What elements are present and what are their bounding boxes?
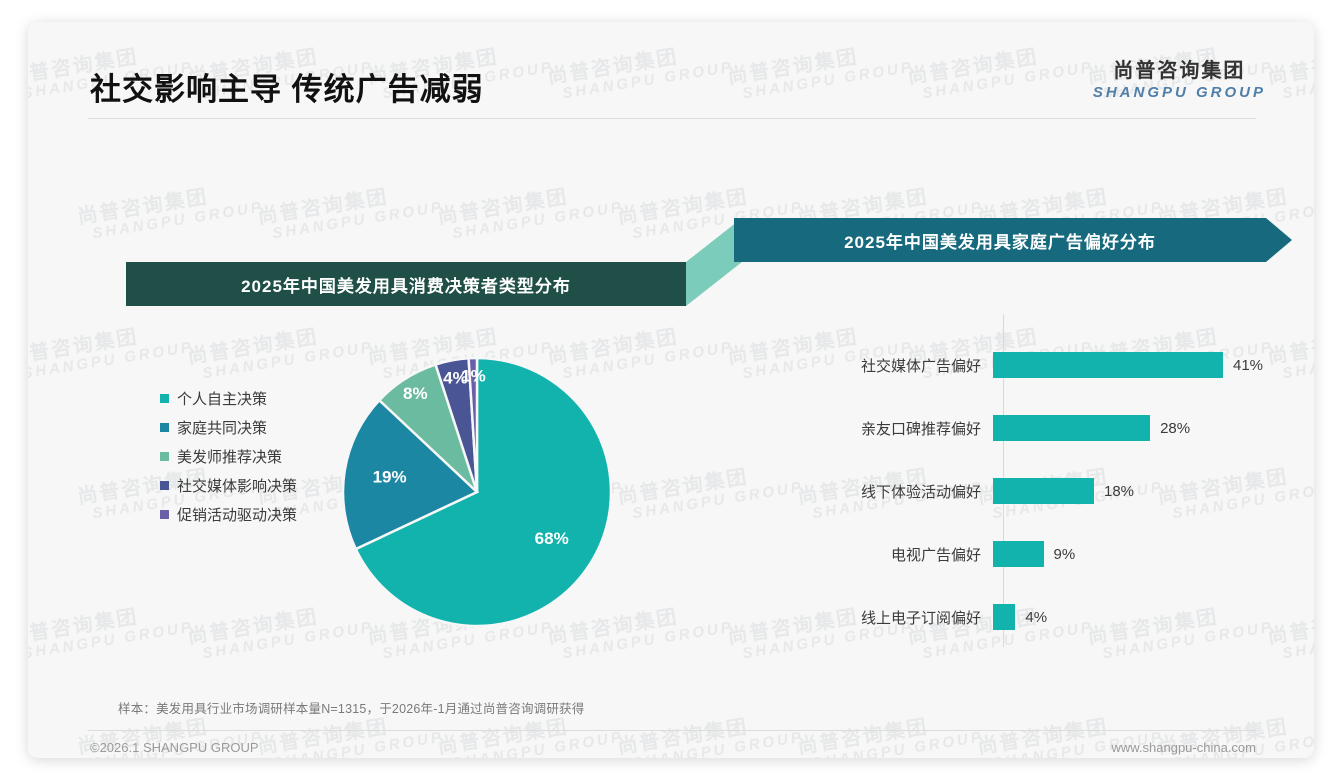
sample-footnote: 样本：美发用具行业市场调研样本量N=1315，于2026年-1月通过尚普咨询调研… <box>118 698 584 717</box>
slide-header: 社交影响主导 传统广告减弱 尚普咨询集团 SHANGPU GROUP <box>28 22 1314 118</box>
pie-legend-label: 家庭共同决策 <box>177 417 267 438</box>
pie-legend-item[interactable]: 美发师推荐决策 <box>160 442 297 471</box>
banner-connector-shape <box>686 218 742 306</box>
bar-fill[interactable] <box>993 541 1044 567</box>
bar-value-label: 4% <box>1025 609 1047 626</box>
pie-legend: 个人自主决策家庭共同决策美发师推荐决策社交媒体影响决策促销活动驱动决策 <box>160 384 297 529</box>
footer-copyright: ©2026.1 SHANGPU GROUP <box>90 740 259 755</box>
bar-chart-row[interactable]: 线下体验活动偏好18% <box>728 478 1288 504</box>
bar-value-label: 18% <box>1104 483 1134 500</box>
page-title: 社交影响主导 传统广告减弱 <box>90 64 484 109</box>
pie-chart: 68%19%8%4%1% <box>337 352 617 632</box>
logo-chinese-text: 尚普咨询集团 <box>1093 60 1266 83</box>
pie-chart-panel: 个人自主决策家庭共同决策美发师推荐决策社交媒体影响决策促销活动驱动决策 68%1… <box>118 322 688 672</box>
brand-logo: 尚普咨询集团 SHANGPU GROUP <box>1093 60 1266 103</box>
pie-legend-item[interactable]: 家庭共同决策 <box>160 413 297 442</box>
bar-fill[interactable] <box>993 352 1223 378</box>
bar-chart-row[interactable]: 线上电子订阅偏好4% <box>728 604 1288 630</box>
banner-right-label: 2025年中国美发用具家庭广告偏好分布 <box>734 228 1266 253</box>
legend-swatch-icon <box>160 394 169 403</box>
logo-english-text: SHANGPU GROUP <box>1093 83 1266 103</box>
legend-swatch-icon <box>160 452 169 461</box>
slide-canvas: 尚普咨询集团SHANGPU GROUP尚普咨询集团SHANGPU GROUP尚普… <box>28 22 1314 758</box>
bar-chart-row[interactable]: 亲友口碑推荐偏好28% <box>728 415 1288 441</box>
bar-value-label: 9% <box>1054 546 1076 563</box>
bar-track: 41% <box>993 352 1263 378</box>
pie-legend-label: 个人自主决策 <box>177 388 267 409</box>
pie-legend-item[interactable]: 社交媒体影响决策 <box>160 471 297 500</box>
pie-legend-item[interactable]: 个人自主决策 <box>160 384 297 413</box>
banner-left-pie-title: 2025年中国美发用具消费决策者类型分布 <box>126 262 686 306</box>
bar-category-label: 亲友口碑推荐偏好 <box>728 418 993 439</box>
bar-category-label: 电视广告偏好 <box>728 544 993 565</box>
watermark-text: 尚普咨询集团SHANGPU GROUP <box>256 178 445 246</box>
bar-value-label: 41% <box>1233 357 1263 374</box>
bar-fill[interactable] <box>993 415 1150 441</box>
pie-slice-label: 8% <box>403 384 428 403</box>
footer-website: www.shangpu-china.com <box>1111 740 1256 755</box>
bar-category-label: 线上电子订阅偏好 <box>728 607 993 628</box>
legend-swatch-icon <box>160 423 169 432</box>
bar-category-label: 线下体验活动偏好 <box>728 481 993 502</box>
pie-slice-label: 1% <box>461 366 486 385</box>
bar-chart-panel: 社交媒体广告偏好41%亲友口碑推荐偏好28%线下体验活动偏好18%电视广告偏好9… <box>728 307 1288 667</box>
banner-left-label: 2025年中国美发用具消费决策者类型分布 <box>241 272 571 297</box>
watermark-text: 尚普咨询集团SHANGPU GROUP <box>436 178 625 246</box>
pie-legend-label: 社交媒体影响决策 <box>177 475 297 496</box>
pie-slice-label: 19% <box>373 468 407 487</box>
header-divider <box>88 118 1256 119</box>
watermark-text: 尚普咨询集团SHANGPU GROUP <box>76 178 265 246</box>
pie-legend-label: 促销活动驱动决策 <box>177 504 297 525</box>
bar-category-label: 社交媒体广告偏好 <box>728 355 993 376</box>
bar-track: 18% <box>993 478 1134 504</box>
watermark-text: 尚普咨询集团SHANGPU GROUP <box>616 708 805 758</box>
banner-right-bar-title: 2025年中国美发用具家庭广告偏好分布 <box>734 218 1292 262</box>
watermark-text: 尚普咨询集团SHANGPU GROUP <box>796 708 985 758</box>
legend-swatch-icon <box>160 481 169 490</box>
bar-fill[interactable] <box>993 478 1094 504</box>
legend-swatch-icon <box>160 510 169 519</box>
footer-divider <box>88 730 1256 731</box>
bar-chart-row[interactable]: 社交媒体广告偏好41% <box>728 352 1288 378</box>
pie-legend-label: 美发师推荐决策 <box>177 446 282 467</box>
bar-track: 4% <box>993 604 1047 630</box>
bar-track: 28% <box>993 415 1190 441</box>
bar-fill[interactable] <box>993 604 1015 630</box>
pie-slice-label: 68% <box>535 529 569 548</box>
pie-legend-item[interactable]: 促销活动驱动决策 <box>160 500 297 529</box>
bar-chart-row[interactable]: 电视广告偏好9% <box>728 541 1288 567</box>
bar-value-label: 28% <box>1160 420 1190 437</box>
bar-track: 9% <box>993 541 1075 567</box>
